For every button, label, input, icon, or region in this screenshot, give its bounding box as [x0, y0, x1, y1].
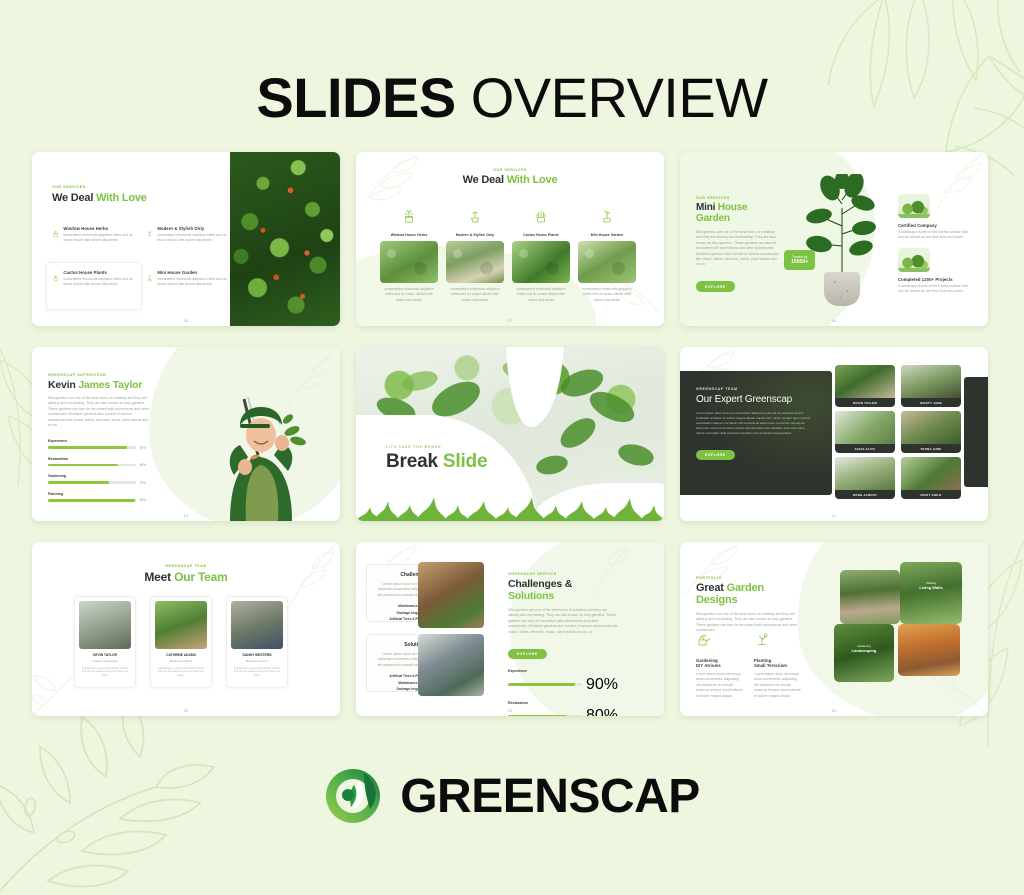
slide19-title: Kevin James Taylor [48, 379, 150, 391]
slide21-member-4[interactable]: TEONA JUDE [901, 411, 961, 453]
slide17-column-2-body: consectetue eiusmods adipisicn elites se… [446, 287, 504, 303]
slide19-gardener-image [200, 371, 318, 521]
mini-garden-icon [146, 270, 153, 285]
slide20-card-1[interactable]: KEVIN TAYLOR Garden Supervisor A landsca… [74, 596, 136, 688]
slide17-column-3[interactable]: Cactus House Plants consectetue eiusmods… [512, 208, 570, 303]
slide23-skill-1-label: Experience [508, 669, 618, 673]
watering-can-icon [696, 632, 712, 648]
slide18-card-1-heading: Certified Company [898, 223, 974, 228]
slide20-card-3[interactable]: DANNY WESTERN Business Owner A landscape… [226, 596, 288, 688]
slide18-body: Mini gardens are one of the best forms o… [696, 230, 780, 268]
slide19-skill-2-value: 80% [140, 463, 146, 467]
slide17-column-2[interactable]: Modern & Stylish Only consectetue eiusmo… [446, 208, 504, 303]
slide18-trusted-badge: Trusted by 15000+ [784, 250, 815, 270]
slide-thumbnail-21[interactable]: GREENSCAP TEAM Our Expert Greenscap Lore… [680, 347, 988, 521]
break-slide-title: Break Slide [386, 451, 487, 473]
slide20-card-3-body: A landscape is part of the Earths surfac… [232, 667, 282, 678]
slide17-column-4[interactable]: Mini House Garden consectetue eiusmods a… [578, 208, 636, 303]
break-slide-grass-silhouette [356, 495, 664, 521]
slide24-gallery-3-caption: Gardening Landscaping [834, 644, 894, 653]
slide23-title: Challenges & Solutions [508, 578, 618, 602]
slide16-feature-2[interactable]: Modern & Stylish Only consectetur eiusmo… [146, 226, 228, 244]
slide24-gallery-1[interactable] [840, 570, 900, 624]
slide23-skill-2-label: Restoration [508, 701, 618, 705]
slide16-feature-4-heading: Mini House Garden [157, 270, 228, 275]
slide17-column-3-image [512, 241, 570, 283]
slide18-card-1-image [898, 194, 930, 218]
footer-brand-text: GREENSCAP [400, 769, 700, 824]
slide20-eyebrow: GREENSCAP TEAM [32, 564, 340, 568]
slide16-feature-1-heading: Window House Herbs [63, 226, 134, 231]
break-slide-eyebrow: LITS TAKE THE BREAK [386, 445, 487, 449]
slide-thumbnail-24[interactable]: PORTFOLIO Great Garden Designs Mini gard… [680, 542, 988, 716]
slide21-title: Our Expert Greenscap [696, 394, 812, 405]
slide20-card-2[interactable]: CATHRINE ADAMS Marketing Officer A lands… [150, 596, 212, 688]
slide-thumbnail-16[interactable]: OUR SERVICES We Deal With Love Window Ho… [32, 152, 340, 326]
slide20-card-3-name: DANNY WESTERN [227, 653, 287, 657]
slide-thumbnail-23[interactable]: Challenges Lorem ipsum dolor sit mesqu a… [356, 542, 664, 716]
slide18-card-2[interactable]: Completed 1200+ Projects A landscape is … [898, 248, 974, 295]
slide21-member-1[interactable]: KEVIN TAYLOR [835, 365, 895, 407]
slide17-column-4-body: consectetue eiusmods adipisicn elites se… [578, 287, 636, 303]
slide19-page-number: 19 [32, 514, 340, 518]
slide23-photo-solutions [418, 634, 484, 696]
page-title-light: OVERVIEW [471, 66, 768, 129]
slide20-card-3-photo [231, 601, 283, 649]
slide21-member-2-name: KIRSTY JANE [901, 398, 961, 407]
page-title: SLIDES OVERVIEW [0, 66, 1024, 130]
slide-thumbnail-18[interactable]: OUR SERVICES Mini House Garden Mini gard… [680, 152, 988, 326]
slide18-card-1-body: A landscape is part of the Earths surfac… [898, 230, 974, 241]
slide20-card-2-name: CATHRINE ADAMS [151, 653, 211, 657]
slide21-join-button[interactable]: EXPLORE [696, 450, 735, 461]
slide19-skill-4-label: Planning [48, 492, 146, 496]
greenscap-leaf-logo-icon [324, 767, 382, 825]
slide20-card-1-body: A landscape is part of the Earths surfac… [80, 667, 130, 678]
slide20-card-3-role: Business Owner [227, 659, 287, 663]
slide24-feature-2-body: Lorem ipsum dolor sit mesqu aesa consect… [754, 672, 802, 699]
slide23-body: Mini gardens are one of the best forms o… [508, 608, 618, 635]
slide20-card-2-role: Marketing Officer [151, 659, 211, 663]
slide17-column-1-label: Window House Herbs [380, 233, 438, 237]
slide21-eyebrow: GREENSCAP TEAM [696, 387, 812, 391]
slide19-skill-2-label: Restoration [48, 457, 146, 461]
slide24-feature-2-line2: Small Terrarium [754, 663, 802, 668]
slide18-explore-button[interactable]: EXPLORE [696, 281, 735, 292]
slide21-member-6[interactable]: NICKY SHILD [901, 457, 961, 499]
potted-herb-icon [52, 226, 59, 241]
slide21-member-4-photo [901, 411, 961, 444]
slide19-skill-3-value: 70% [140, 481, 146, 485]
slide21-member-2[interactable]: KIRSTY JANE [901, 365, 961, 407]
rubber-plant-leaves [806, 174, 876, 274]
slide21-body: Lorem ipsum dolor sit ames consectetur a… [696, 411, 812, 436]
footer-logo: GREENSCAP [0, 767, 1024, 825]
slide-thumbnail-19[interactable]: GREENSCAP SUPERVISOR Kevin James Taylor … [32, 347, 340, 521]
slide17-column-2-label: Modern & Stylish Only [446, 233, 504, 237]
slide18-trusted-count: 15000+ [791, 259, 808, 265]
slide19-skill-4-value: 99% [140, 498, 146, 502]
slide21-member-5-name: DONG ALMOST [835, 490, 895, 499]
slide21-member-2-photo [901, 365, 961, 398]
slide21-member-3-name: SAISA ALITA [835, 444, 895, 453]
slide17-eyebrow: OUR SERVICES [356, 168, 664, 172]
slide17-title: We Deal With Love [356, 174, 664, 186]
cactus-icon [52, 270, 59, 285]
slide17-page-number: 17 [356, 319, 664, 323]
slide23-explore-button[interactable]: EXPLORE [508, 649, 547, 660]
slide19-skill-2: Restoration 80% [48, 457, 146, 468]
slide17-column-3-body: consectetue eiusmods adipisicn elites se… [512, 287, 570, 303]
slide18-plant-image [806, 174, 876, 306]
slide19-skill-1: Experience 90% [48, 439, 146, 450]
slide19-body: Mini gardens are one of the best forms o… [48, 396, 150, 428]
cactus-icon [534, 208, 548, 224]
slide21-member-6-name: NICKY SHILD [901, 490, 961, 499]
slide17-column-4-label: Mini House Garden [578, 233, 636, 237]
slide20-page-number: 20 [32, 709, 340, 713]
slide19-skill-3: Gardening 70% [48, 474, 146, 485]
slide19-skill-3-label: Gardening [48, 474, 146, 478]
slide17-column-1-image [380, 241, 438, 283]
slide19-skill-1-label: Experience [48, 439, 146, 443]
slide20-card-2-body: A landscape is part of the Earths surfac… [156, 667, 206, 678]
slide20-card-1-photo [79, 601, 131, 649]
slide21-member-3[interactable]: SAISA ALITA [835, 411, 895, 453]
potted-herb-icon [402, 208, 416, 224]
slide20-card-1-role: Garden Supervisor [75, 659, 135, 663]
slide24-gallery-3[interactable]: Gardening Landscaping [834, 624, 894, 682]
mini-garden-icon [600, 208, 614, 224]
slide20-card-2-photo [155, 601, 207, 649]
slide21-dark-panel: GREENSCAP TEAM Our Expert Greenscap Lore… [680, 371, 832, 495]
slide23-photo-challenges [418, 562, 484, 628]
slide19-skill-1-value: 90% [140, 446, 146, 450]
slide20-card-1-name: KEVIN TAYLOR [75, 653, 135, 657]
slide23-eyebrow: GREENSCAP SERVICE [508, 572, 618, 576]
slide21-page-number: 21 [680, 514, 988, 518]
slide17-column-2-image [446, 241, 504, 283]
page-title-bold: SLIDES [256, 66, 455, 129]
slide24-eyebrow: PORTFOLIO [696, 576, 800, 580]
slide16-feature-2-body: consectetur eiusmods adipisicn elites se… [157, 233, 228, 244]
slide24-feature-2[interactable]: Planting Small Terrarium Lorem ipsum dol… [754, 632, 802, 699]
slide21-edge-panel [964, 377, 988, 487]
slide21-member-1-name: KEVIN TAYLOR [835, 398, 895, 407]
slide23-skill-1-value: 90% [586, 676, 618, 694]
slides-grid: OUR SERVICES We Deal With Love Window Ho… [32, 152, 994, 716]
slide18-card-2-body: A landscape is part of the Earths surfac… [898, 284, 974, 295]
slide24-page-number: 24 [680, 709, 988, 713]
slide16-title: We Deal With Love [52, 192, 147, 204]
slide21-member-1-photo [835, 365, 895, 398]
slide-thumbnail-break[interactable]: LITS TAKE THE BREAK Break Slide [356, 347, 664, 521]
slide23-skill-1: Experience 90% [508, 669, 618, 694]
slide-thumbnail-17[interactable]: OUR SERVICES We Deal With Love Window Ho… [356, 152, 664, 326]
slide17-column-1[interactable]: Window House Herbs consectetue eiusmods … [380, 208, 438, 303]
slide17-column-1-body: consectetue eiusmods adipisicn elites se… [380, 287, 438, 303]
slide21-member-3-photo [835, 411, 895, 444]
slide24-gallery-4[interactable] [898, 624, 960, 676]
slide17-column-4-image [578, 241, 636, 283]
slide16-green-wall-image [230, 152, 340, 326]
slide16-feature-4[interactable]: Mini House Garden consectetur eiusmods a… [146, 270, 228, 288]
sprout-icon [468, 208, 482, 224]
slide16-feature-4-body: consectetur eiusmods adipisicn elites se… [157, 277, 228, 288]
slide16-feature-1-body: consectetur eiusmods adipisicn elites se… [63, 233, 134, 244]
slide21-member-5-photo [835, 457, 895, 490]
slide16-eyebrow: OUR SERVICES [52, 185, 147, 189]
slide16-page-number: 16 [32, 319, 340, 323]
slide18-card-2-heading: Completed 1200+ Projects [898, 277, 974, 282]
planting-icon [754, 632, 770, 648]
slide19-skill-4: Planning 99% [48, 492, 146, 503]
slide18-page-number: 18 [680, 319, 988, 323]
sprout-icon [146, 226, 153, 241]
slide23-page-number: 23 [356, 709, 664, 713]
slide24-title: Great Garden Designs [696, 582, 800, 606]
slide17-column-3-label: Cactus House Plants [512, 233, 570, 237]
slide24-feature-1-line2: DIY Atriums [696, 663, 744, 668]
slide16-feature-3-body: consectetur eiusmods adipisicn elites se… [63, 277, 134, 288]
slide18-concrete-pot [824, 272, 860, 306]
slide-thumbnail-20[interactable]: GREENSCAP TEAM Meet Our Team KEVIN TAYLO… [32, 542, 340, 716]
slide21-member-4-name: TEONA JUDE [901, 444, 961, 453]
slide21-member-5[interactable]: DONG ALMOST [835, 457, 895, 499]
slide16-feature-3[interactable]: Cactus House Plants consectetur eiusmods… [52, 270, 134, 288]
slide18-eyebrow: OUR SERVICES [696, 196, 780, 200]
slide24-feature-1-body: Lorem ipsum dolor sit mesqu aesa consect… [696, 672, 744, 699]
slide18-card-1[interactable]: Certified Company A landscape is part of… [898, 194, 974, 241]
slide18-card-2-image [898, 248, 930, 272]
slide16-feature-3-heading: Cactus House Plants [63, 270, 134, 275]
slide19-eyebrow: GREENSCAP SUPERVISOR [48, 373, 150, 377]
slide24-gallery-2[interactable]: Planting Living Walls [900, 562, 962, 624]
slide21-member-6-photo [901, 457, 961, 490]
slide24-body: Mini gardens are one of the best forms o… [696, 612, 800, 634]
slide24-feature-1[interactable]: Gardening DIY Atriums Lorem ipsum dolor … [696, 632, 744, 699]
slide18-title: Mini House Garden [696, 202, 780, 224]
slide20-title: Meet Our Team [32, 570, 340, 584]
slide16-feature-2-heading: Modern & Stylish Only [157, 226, 228, 231]
slide16-feature-1[interactable]: Window House Herbs consectetur eiusmods … [52, 226, 134, 244]
slide24-gallery-2-caption: Planting Living Walls [900, 581, 962, 590]
